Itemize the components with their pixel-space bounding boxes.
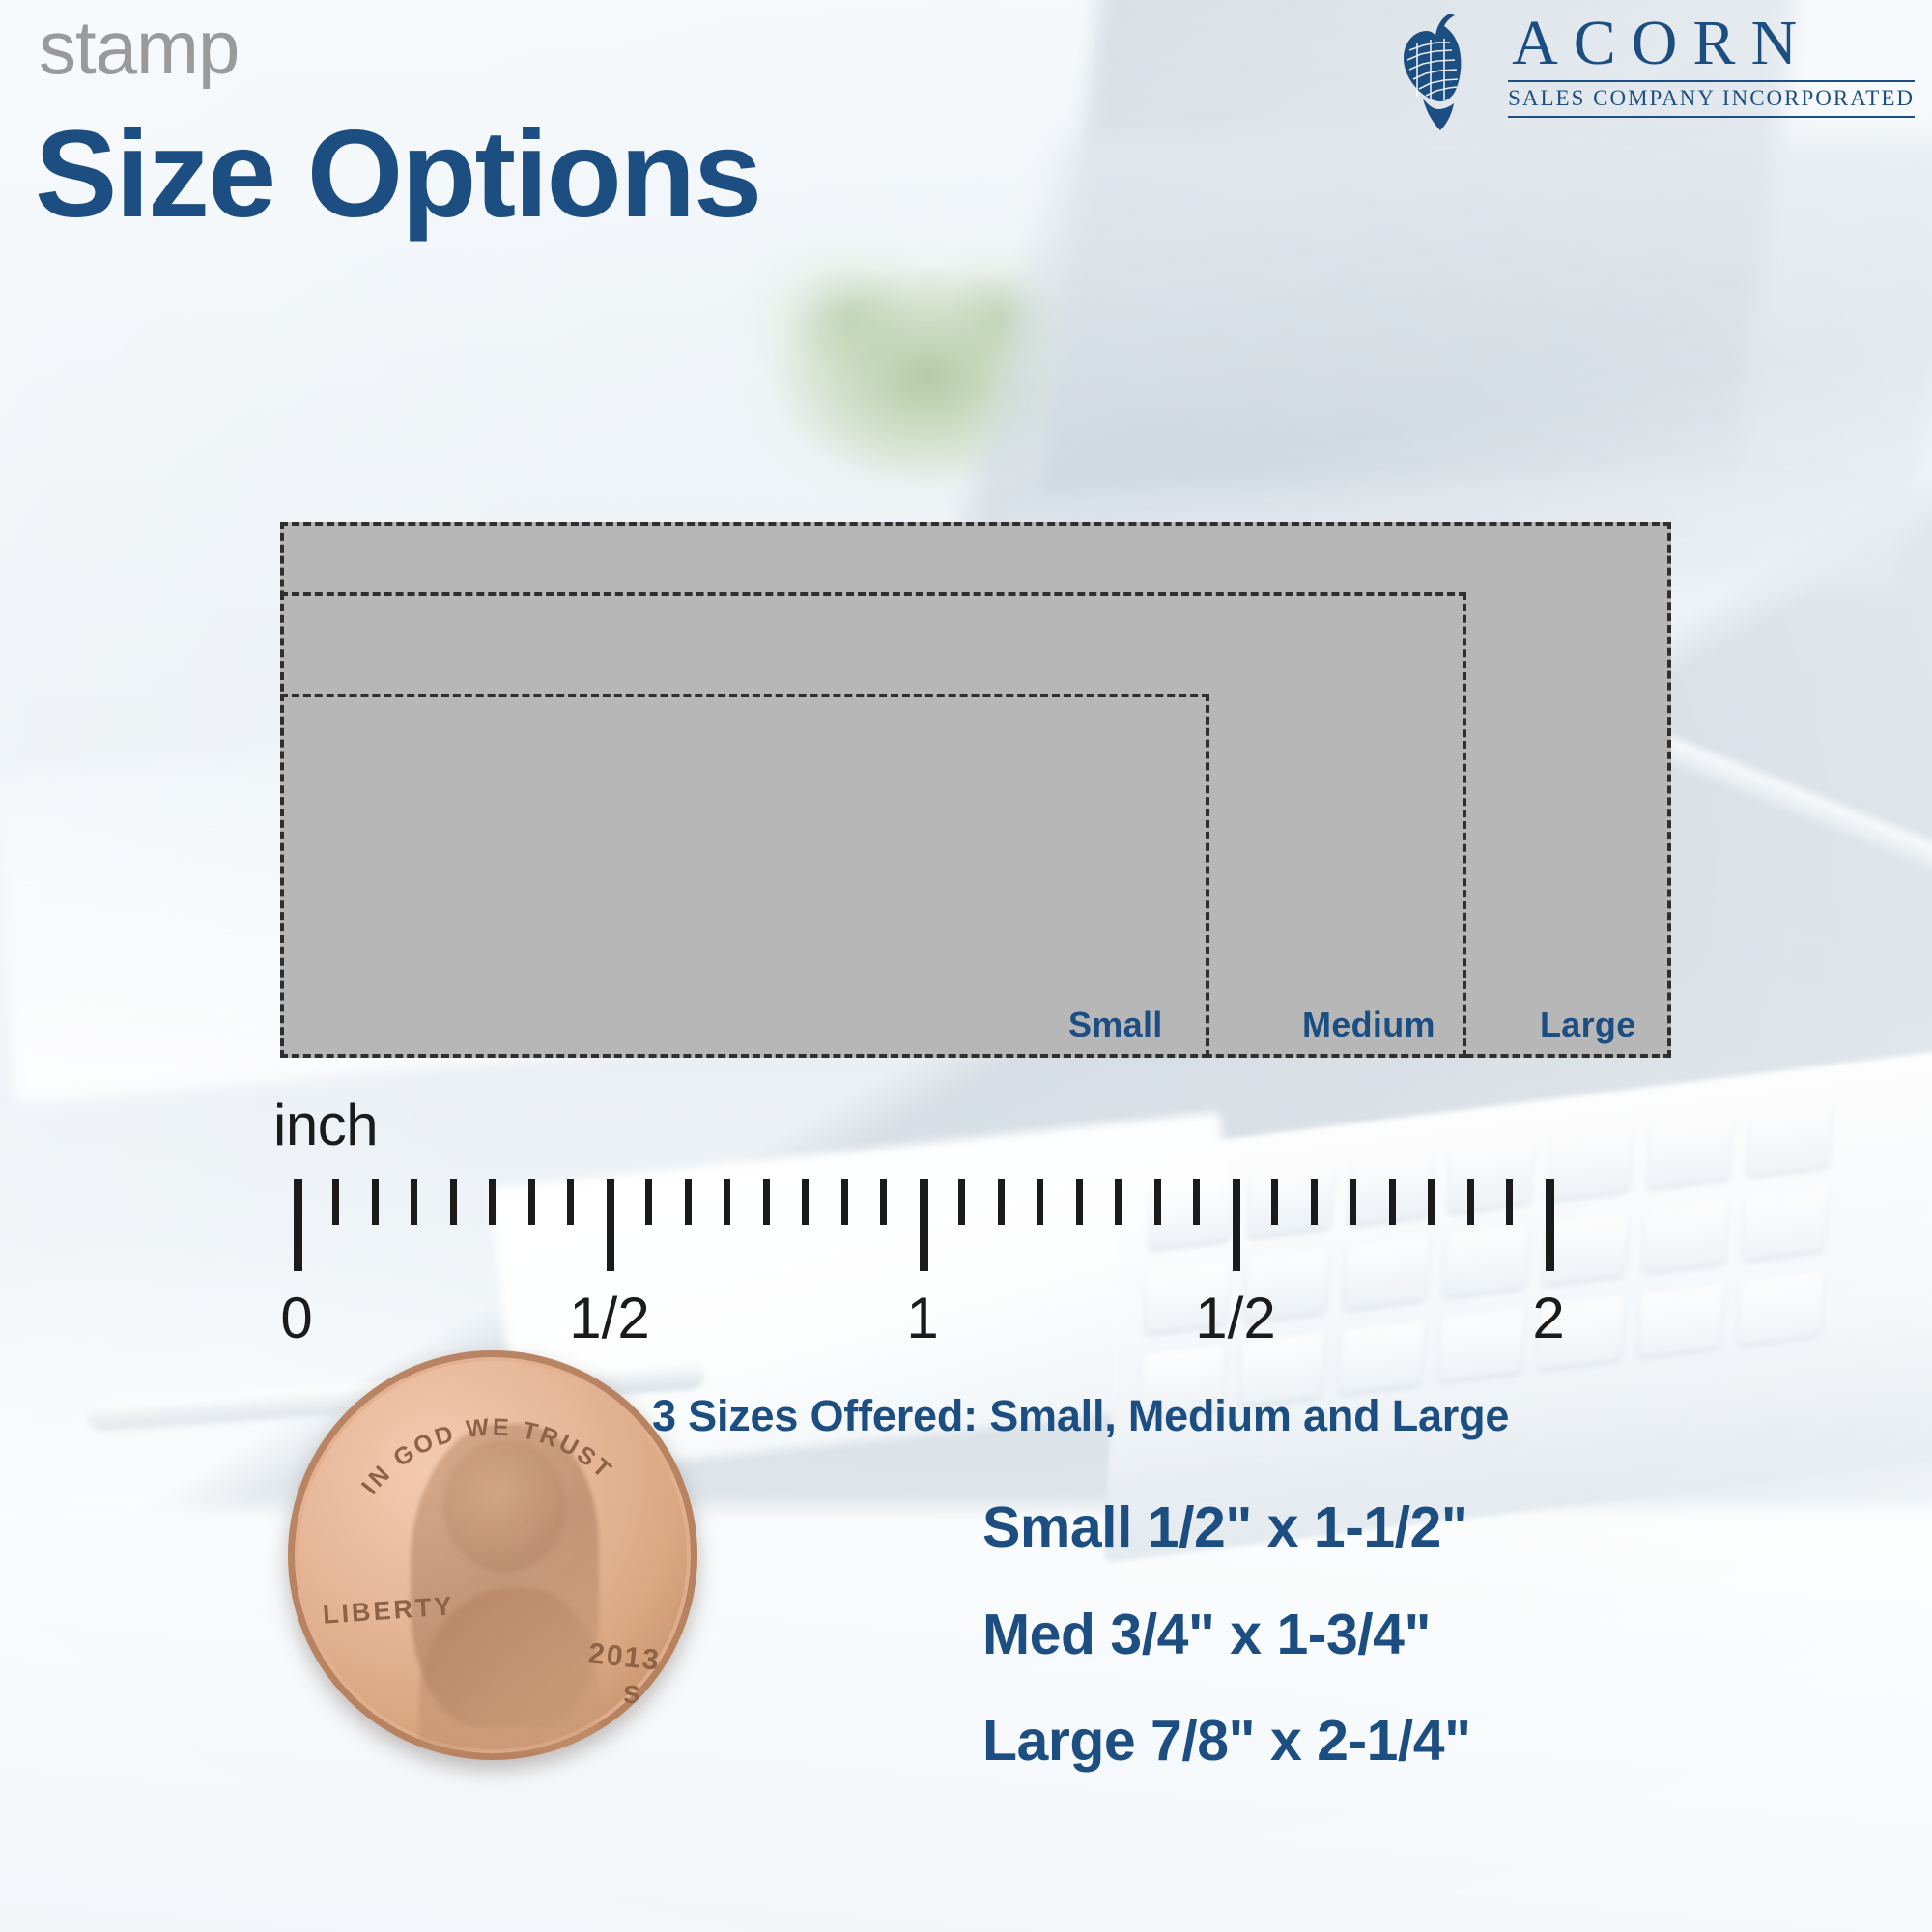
ruler-number: 1/2 [1195, 1285, 1275, 1351]
logo-rule-top [1508, 80, 1915, 82]
size-line-small: Small 1/2" x 1-1/2" [982, 1494, 1467, 1560]
size-line-medium: Med 3/4" x 1-3/4" [982, 1602, 1431, 1667]
acorn-icon [1394, 8, 1494, 131]
swatch-label-small: Small [1068, 1005, 1163, 1045]
company-logo: ACORN SALES COMPANY INCORPORATED [1394, 8, 1915, 131]
penny-mint-mark: S [623, 1680, 639, 1710]
svg-text:IN GOD WE TRUST: IN GOD WE TRUST [356, 1413, 618, 1499]
ruler-number: 1 [906, 1285, 938, 1351]
swatch-small [280, 694, 1209, 1058]
sizes-offered-line: 3 Sizes Offered: Small, Medium and Large [652, 1391, 1509, 1441]
size-line-large: Large 7/8" x 2-1/4" [982, 1708, 1471, 1774]
ruler-number: 1/2 [569, 1285, 649, 1351]
size-options-infographic: stamp Size Options [0, 0, 1932, 1932]
ruler-unit-label: inch [273, 1092, 378, 1158]
ruler-number: 0 [280, 1285, 312, 1351]
brand-word: stamp [39, 10, 239, 85]
logo-rule-bottom [1508, 116, 1915, 118]
us-penny-coin: IN GOD WE TRUST LIBERTY 2013 S [288, 1350, 697, 1760]
swatch-label-large: Large [1540, 1005, 1636, 1045]
logo-name: ACORN [1508, 14, 1915, 74]
logo-subtitle: SALES COMPANY INCORPORATED [1508, 86, 1915, 111]
page-title: Size Options [35, 108, 760, 241]
ruler-number: 2 [1532, 1285, 1564, 1351]
swatch-label-medium: Medium [1302, 1005, 1435, 1045]
